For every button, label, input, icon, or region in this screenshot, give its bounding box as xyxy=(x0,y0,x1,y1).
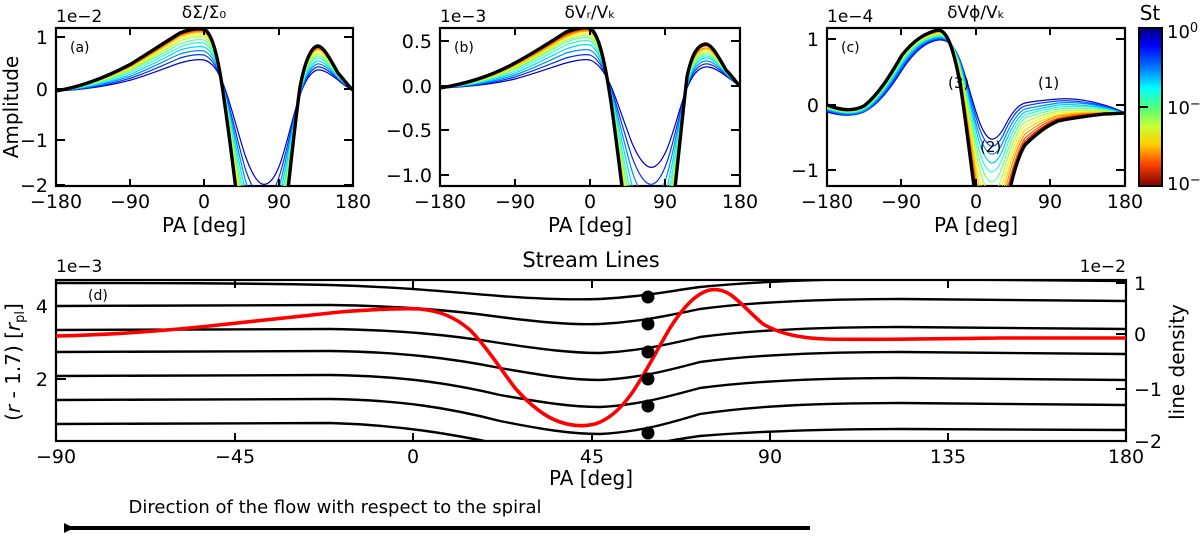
marker-dot xyxy=(642,427,655,440)
panel-b-y-offset: 1e−3 xyxy=(440,7,486,27)
panel-a-xtick-labels: −180 −90 0 90 180 xyxy=(30,191,371,213)
panel-d-xtick-labels: −90 −45 0 45 90 135 180 xyxy=(36,446,1144,468)
svg-text:135: 135 xyxy=(930,446,966,468)
svg-text:−1: −1 xyxy=(20,130,48,152)
flow-direction-annotation: Direction of the flow with respect to th… xyxy=(64,497,810,528)
panel-c-title: δVϕ/Vₖ xyxy=(947,3,1005,23)
svg-text:0: 0 xyxy=(36,79,48,101)
panel-a-y-offset: 1e−2 xyxy=(56,7,102,27)
svg-text:10−4: 10−4 xyxy=(1167,173,1200,195)
svg-text:90: 90 xyxy=(267,191,291,213)
colorbar-title: St xyxy=(1140,1,1161,25)
svg-text:0.0: 0.0 xyxy=(402,76,432,98)
svg-text:0: 0 xyxy=(807,95,819,117)
panel-d-frame xyxy=(56,280,1126,441)
svg-text:0.5: 0.5 xyxy=(402,31,432,53)
svg-text:−90: −90 xyxy=(881,191,921,213)
svg-text:1: 1 xyxy=(1134,273,1146,295)
panel-d-xlabel: PA [deg] xyxy=(549,466,633,490)
panel-b-tag: (b) xyxy=(454,40,474,56)
panel-a-ylabel: Amplitude xyxy=(0,56,23,159)
line-density-curve xyxy=(56,290,1126,426)
svg-text:−90: −90 xyxy=(495,191,535,213)
panel-d-left-offset: 1e−3 xyxy=(56,257,102,277)
panel-d-right-offset: 1e−2 xyxy=(1080,257,1126,277)
svg-text:−180: −180 xyxy=(414,191,466,213)
flow-direction-caption: Direction of the flow with respect to th… xyxy=(129,497,542,518)
annotation-3: (3) xyxy=(948,74,969,92)
panel-d-ylabel-left: (r - 1.7) [rpl] xyxy=(1,303,28,421)
svg-text:−180: −180 xyxy=(30,191,82,213)
panel-c-xlabel: PA [deg] xyxy=(934,213,1018,237)
panel-b-xtick-labels: −180 −90 0 90 180 xyxy=(414,191,758,213)
panel-c-tag: (c) xyxy=(841,40,860,56)
panel-b-title: δVᵣ/Vₖ xyxy=(564,3,615,23)
panel-b-ytick-labels: 0.5 0.0 −0.5 −1.0 xyxy=(386,31,432,187)
svg-text:0: 0 xyxy=(1134,324,1146,346)
panel-b-xlabel: PA [deg] xyxy=(548,213,632,237)
panel-d-ylabel-right: line density xyxy=(1165,304,1189,420)
svg-text:−90: −90 xyxy=(110,191,150,213)
svg-text:2: 2 xyxy=(36,369,48,391)
panel-d-title: Stream Lines xyxy=(522,248,659,272)
marker-dot xyxy=(642,291,655,304)
svg-text:−90: −90 xyxy=(36,446,76,468)
svg-text:180: 180 xyxy=(722,191,758,213)
panel-c-y-offset: 1e−4 xyxy=(827,7,873,27)
svg-text:−0.5: −0.5 xyxy=(386,120,432,142)
svg-text:45: 45 xyxy=(580,446,604,468)
panel-a-xlabel: PA [deg] xyxy=(162,213,246,237)
svg-text:−45: −45 xyxy=(215,446,255,468)
svg-text:−180: −180 xyxy=(801,191,853,213)
svg-text:90: 90 xyxy=(1038,191,1062,213)
panel-c: δVϕ/Vₖ 1e−4 xyxy=(791,3,1143,257)
svg-text:100: 100 xyxy=(1167,21,1198,43)
svg-text:1: 1 xyxy=(36,27,48,49)
svg-text:180: 180 xyxy=(1107,191,1143,213)
figure-root: δΣ/Σ₀ 1e−2 xyxy=(0,0,1200,538)
marker-dot xyxy=(642,318,655,331)
panel-d-left-ytick-labels: 4 2 xyxy=(36,296,48,391)
panel-a-title: δΣ/Σ₀ xyxy=(182,3,227,23)
svg-text:90: 90 xyxy=(758,446,782,468)
panel-d-ticks xyxy=(56,280,1126,441)
panel-c-xtick-labels: −180 −90 0 90 180 xyxy=(801,191,1143,213)
marker-dot xyxy=(642,400,655,413)
marker-dot xyxy=(642,373,655,386)
svg-text:0: 0 xyxy=(584,191,596,213)
svg-text:0: 0 xyxy=(407,446,419,468)
annotation-1: (1) xyxy=(1038,74,1059,92)
svg-text:4: 4 xyxy=(36,296,48,318)
panel-d-content xyxy=(56,279,1126,458)
panel-d-tag: (d) xyxy=(88,288,108,304)
svg-text:0: 0 xyxy=(970,191,982,213)
colorbar[interactable]: St 100 10−2 10−4 xyxy=(1139,1,1200,195)
svg-text:−1.0: −1.0 xyxy=(386,165,432,187)
svg-text:90: 90 xyxy=(653,191,677,213)
svg-text:−1: −1 xyxy=(791,160,819,182)
figure-svg: δΣ/Σ₀ 1e−2 xyxy=(0,0,1200,538)
svg-text:180: 180 xyxy=(335,191,371,213)
panel-c-ytick-labels: 1 0 −1 xyxy=(791,29,819,182)
svg-text:180: 180 xyxy=(1108,446,1144,468)
panel-d-right-ytick-labels: 1 0 −1 −2 xyxy=(1134,273,1162,453)
svg-text:1: 1 xyxy=(807,29,819,51)
svg-text:0: 0 xyxy=(198,191,210,213)
panel-a-tag: (a) xyxy=(70,40,90,56)
marker-dot xyxy=(642,346,655,359)
svg-text:−1: −1 xyxy=(1134,379,1162,401)
panel-a-ytick-labels: 1 0 −1 −2 xyxy=(20,27,48,197)
panel-d: Stream Lines 1e−3 1e−2 xyxy=(1,248,1189,490)
annotation-2: (2) xyxy=(980,138,1001,156)
svg-text:10−2: 10−2 xyxy=(1167,97,1200,119)
streamlines xyxy=(56,279,1126,458)
colorbar-tick-labels: 100 10−2 10−4 xyxy=(1167,21,1200,195)
